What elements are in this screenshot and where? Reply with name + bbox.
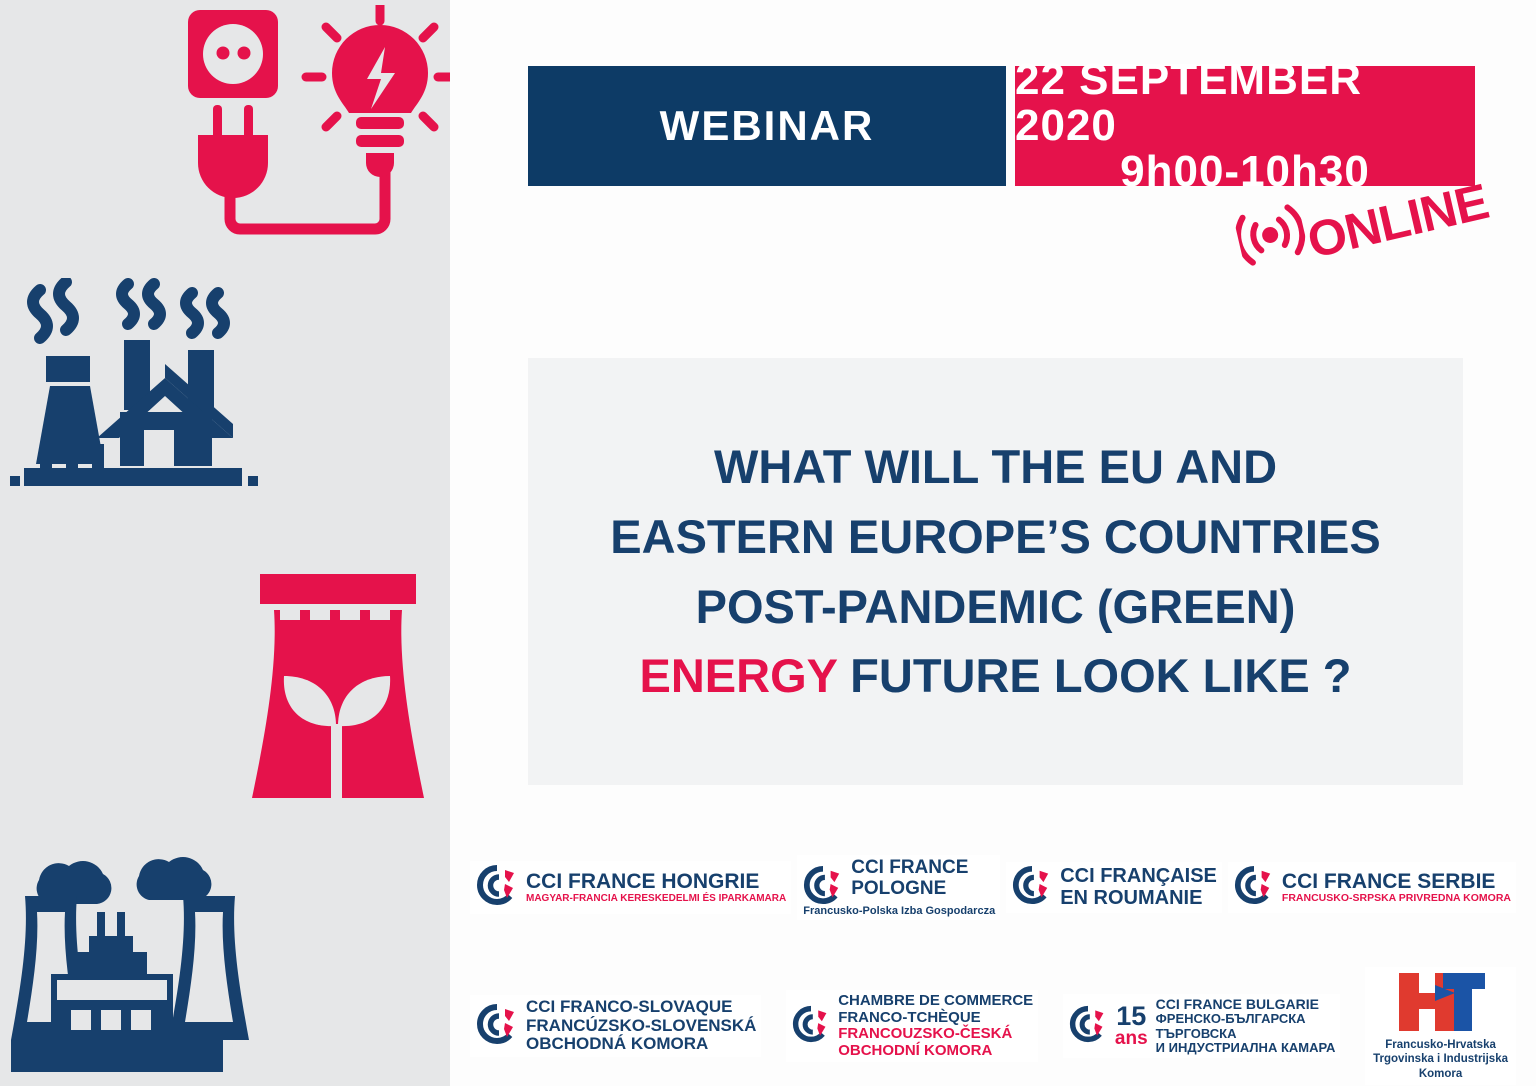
logo-text: CHAMBRE DE COMMERCE FRANCO-TCHÈQUE FRANC…	[838, 993, 1033, 1059]
cci-logo-mark-icon	[475, 1003, 519, 1050]
cci-logo-mark-icon	[1233, 865, 1275, 910]
logo-line: FRANCUSKO-SRPSKA PRIVREDNA KOMORA	[1282, 893, 1511, 905]
online-label: ONLINE	[1304, 181, 1491, 262]
webinar-label: WEBINAR	[660, 102, 875, 150]
logo-line: Francusko-Hrvatska	[1385, 1038, 1496, 1052]
left-illustration-panel	[0, 0, 450, 1086]
logo-line: CCI FRANCE HONGRIE	[526, 870, 786, 893]
logo-cci-francaise-en-roumanie[interactable]: CCI FRANÇAISE EN ROUMANIE	[1006, 862, 1222, 913]
logo-line: OBCHODNÍ KOMORA	[838, 1043, 1033, 1060]
logo-line: Francusko-Polska Izba Gospodarcza	[803, 905, 995, 917]
logo-line: POLOGNE	[851, 879, 995, 900]
logo-line: EN ROUMANIE	[1060, 887, 1217, 909]
green-energy-cooling-tower-icon	[243, 566, 433, 806]
plug-socket-lightbulb-icon	[180, 5, 450, 250]
logo-line: ТЪРГОВСКА	[1156, 1027, 1336, 1041]
headline-line-3: POST-PANDEMIC (GREEN)	[696, 572, 1296, 642]
logo-line: CCI FRANCE SERBIE	[1282, 870, 1511, 893]
logo-line: CCI FRANCE	[851, 858, 995, 879]
logo-line: CCI FRANCO-SLOVAQUE	[526, 998, 756, 1017]
cci-logo-mark-icon	[802, 865, 844, 910]
logo-text: CCI FRANCE SERBIE FRANCUSKO-SRPSKA PRIVR…	[1282, 870, 1511, 905]
headline-accent-word: ENERGY	[639, 649, 837, 702]
logo-cci-france-serbie[interactable]: CCI FRANCE SERBIE FRANCUSKO-SRPSKA PRIVR…	[1228, 862, 1516, 913]
partner-logos: CCI FRANCE HONGRIE MAGYAR-FRANCIA KERESK…	[470, 855, 1516, 1080]
logo-line: ФРЕНСКО-БЪЛГАРСКА	[1156, 1012, 1336, 1026]
anniversary-number: 15	[1116, 1004, 1146, 1030]
anniversary-mark: 15 ans	[1115, 1004, 1148, 1049]
webinar-banner: WEBINAR	[528, 66, 1006, 186]
logo-line: И ИНДУСТРИАЛНА КАМАРА	[1156, 1041, 1336, 1055]
cci-logo-mark-icon	[791, 1005, 831, 1048]
logo-cci-france-bulgarie[interactable]: 15 ans CCI FRANCE BULGARIE ФРЕНСКО-БЪЛГА…	[1063, 994, 1340, 1058]
date-time-banner: 22 SEPTEMBER 2020 9h00-10h30	[1015, 66, 1475, 186]
logo-line: Komora	[1419, 1067, 1462, 1081]
logo-htf-francusko-hrvatska[interactable]: Francusko-Hrvatska Trgovinska i Industri…	[1365, 967, 1516, 1085]
logo-row-1: CCI FRANCE HONGRIE MAGYAR-FRANCIA KERESK…	[470, 855, 1516, 920]
logo-text: CCI FRANCE HONGRIE MAGYAR-FRANCIA KERESK…	[526, 870, 786, 904]
cci-logo-mark-icon	[1011, 865, 1053, 910]
logo-text: CCI FRANCE POLOGNE Francusko-Polska Izba…	[851, 858, 995, 917]
logo-line: CHAMBRE DE COMMERCE	[838, 993, 1033, 1010]
headline-line-1: WHAT WILL THE EU AND	[714, 432, 1277, 502]
headline-line-4-rest: FUTURE LOOK LIKE ?	[837, 649, 1351, 702]
logo-row-2: CCI FRANCO-SLOVAQUE FRANCÚZSKO-SLOVENSKÁ…	[470, 967, 1516, 1085]
anniversary-word: ans	[1115, 1029, 1148, 1048]
logo-line: CCI FRANÇAISE	[1060, 865, 1217, 887]
cci-logo-mark-icon	[1068, 1005, 1108, 1048]
logo-line: CCI FRANCE BULGARIE	[1156, 997, 1336, 1012]
poster-canvas: WEBINAR 22 SEPTEMBER 2020 9h00-10h30 ONL…	[0, 0, 1536, 1086]
headline-line-2: EASTERN EUROPE’S COUNTRIES	[610, 502, 1380, 572]
logo-line: FRANCÚZSKO-SLOVENSKÁ	[526, 1017, 756, 1036]
logo-line: FRANCO-TCHÈQUE	[838, 1010, 1033, 1027]
htf-monogram-icon	[1395, 971, 1487, 1038]
logo-line: Trgovinska i Industrijska	[1373, 1052, 1508, 1066]
logo-line: FRANCOUZSKO-ČESKÁ	[838, 1026, 1033, 1043]
headline-line-4: ENERGY FUTURE LOOK LIKE ?	[639, 641, 1351, 711]
logo-cci-france-pologne[interactable]: CCI FRANCE POLOGNE Francusko-Polska Izba…	[797, 855, 1000, 920]
logo-line: MAGYAR-FRANCIA KERESKEDELMI ÉS IPARKAMAR…	[526, 893, 786, 904]
logo-cci-france-hongrie[interactable]: CCI FRANCE HONGRIE MAGYAR-FRANCIA KERESK…	[470, 861, 791, 914]
logo-text: CCI FRANCO-SLOVAQUE FRANCÚZSKO-SLOVENSKÁ…	[526, 998, 756, 1054]
logo-chambre-de-commerce-franco-tcheque[interactable]: CHAMBRE DE COMMERCE FRANCO-TCHÈQUE FRANC…	[786, 990, 1038, 1062]
broadcast-wifi-icon	[1232, 197, 1311, 277]
power-plant-icon	[5, 840, 255, 1080]
logo-text: CCI FRANÇAISE EN ROUMANIE	[1060, 865, 1217, 909]
date-label: 22 SEPTEMBER 2020	[1015, 57, 1475, 149]
logo-line: OBCHODNÁ KOMORA	[526, 1035, 756, 1054]
logo-text: CCI FRANCE BULGARIE ФРЕНСКО-БЪЛГАРСКА ТЪ…	[1156, 997, 1336, 1055]
factory-smokestacks-icon	[10, 278, 260, 518]
logo-cci-franco-slovaque[interactable]: CCI FRANCO-SLOVAQUE FRANCÚZSKO-SLOVENSKÁ…	[470, 995, 761, 1057]
headline-panel: WHAT WILL THE EU AND EASTERN EUROPE’S CO…	[528, 358, 1463, 785]
cci-logo-mark-icon	[475, 864, 519, 911]
